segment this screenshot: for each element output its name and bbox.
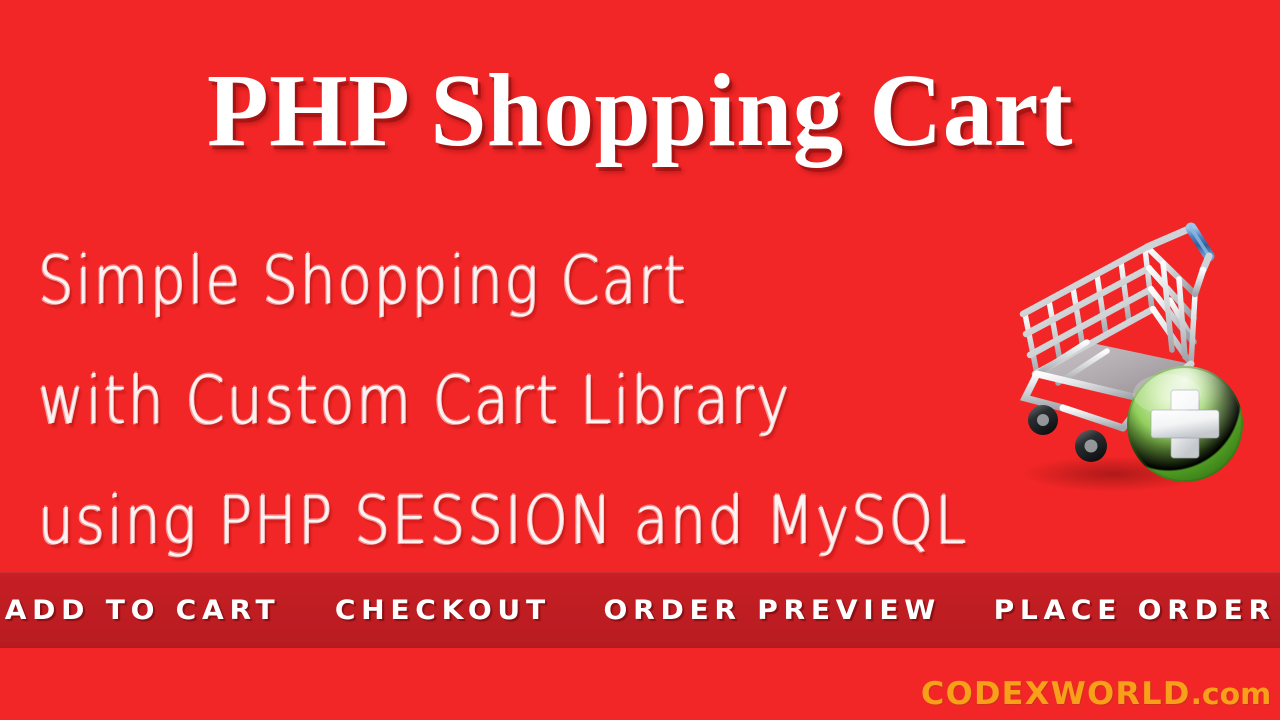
page-title: PHP Shopping Cart: [19, 56, 1261, 165]
plus-badge: [1127, 366, 1243, 482]
nav-add-to-cart[interactable]: ADD TO CART: [4, 595, 280, 626]
shopping-cart-illustration: [995, 222, 1245, 502]
add-to-cart-icon: [995, 222, 1245, 502]
navbar-items: ADD TO CART CHECKOUT ORDER PREVIEW PLACE…: [0, 572, 1280, 648]
nav-checkout[interactable]: CHECKOUT: [335, 595, 551, 626]
logo-domain: .com: [1190, 677, 1271, 711]
logo-brand: CODEXWORLD: [921, 676, 1191, 712]
video-thumbnail: PHP Shopping Cart Simple Shopping Cart w…: [0, 0, 1280, 720]
nav-place-order[interactable]: PLACE ORDER: [993, 595, 1275, 626]
codexworld-logo[interactable]: CODEXWORLD.com: [921, 676, 1271, 712]
nav-order-preview[interactable]: ORDER PREVIEW: [604, 595, 941, 626]
subtitle-block: Simple Shopping Cart with Custom Cart Li…: [38, 222, 998, 582]
navbar: ADD TO CART CHECKOUT ORDER PREVIEW PLACE…: [0, 572, 1280, 648]
